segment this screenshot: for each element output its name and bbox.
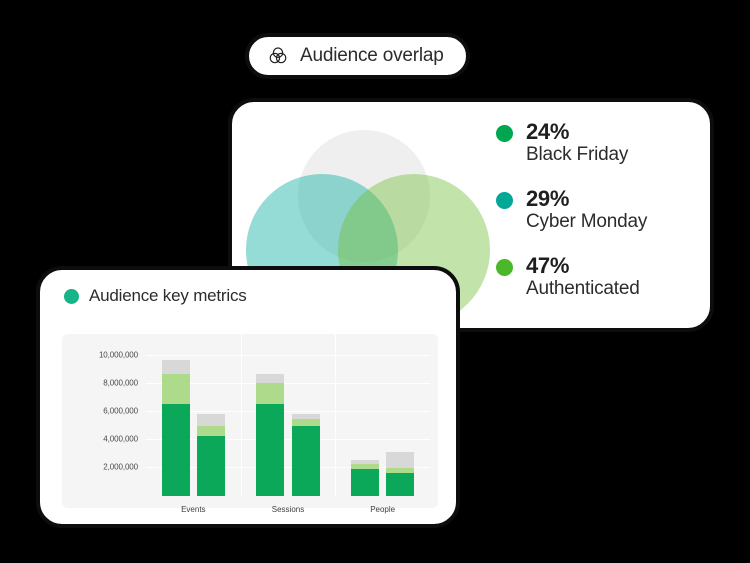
bar[interactable]	[256, 374, 284, 496]
category-separator	[335, 334, 336, 496]
bar-chart-plot-area: 2,000,0004,000,0006,000,0008,000,00010,0…	[146, 342, 430, 496]
legend-label: Authenticated	[526, 277, 640, 301]
bar-segment-tertiary	[256, 374, 284, 383]
bar-segment-primary	[256, 404, 284, 496]
bar-segment-secondary	[256, 383, 284, 403]
bar-segment-tertiary	[386, 452, 414, 468]
bar[interactable]	[351, 460, 379, 496]
bar-segment-secondary	[292, 419, 320, 426]
overlap-legend: 24% Black Friday 29% Cyber Monday 47% Au…	[496, 120, 706, 301]
bar-segment-primary	[292, 426, 320, 496]
metrics-title-dot-icon	[64, 289, 79, 304]
y-axis-tick-label: 4,000,000	[103, 435, 138, 444]
audience-overlap-pill[interactable]: Audience overlap	[245, 33, 470, 79]
screenshot-root: Audience overlap 24% Black Friday 29% Cy…	[0, 0, 750, 563]
legend-item-black-friday: 24% Black Friday	[496, 120, 706, 167]
legend-dot-icon	[496, 125, 513, 142]
metrics-card-title: Audience key metrics	[89, 286, 247, 306]
bar[interactable]	[162, 360, 190, 496]
y-axis-tick-label: 10,000,000	[99, 351, 138, 360]
y-axis-tick-label: 8,000,000	[103, 379, 138, 388]
legend-dot-icon	[496, 192, 513, 209]
bar-segment-secondary	[197, 426, 225, 436]
bar-segment-secondary	[162, 374, 190, 403]
bar[interactable]	[386, 452, 414, 496]
bar-segment-tertiary	[162, 360, 190, 374]
metrics-card-header: Audience key metrics	[40, 270, 456, 306]
legend-percent: 24%	[526, 120, 628, 143]
bar-segment-primary	[197, 436, 225, 496]
category-separator	[241, 334, 242, 496]
bar[interactable]	[292, 414, 320, 496]
bar-chart: 2,000,0004,000,0006,000,0008,000,00010,0…	[62, 334, 438, 508]
bar[interactable]	[197, 414, 225, 496]
y-axis-tick-label: 2,000,000	[103, 463, 138, 472]
bar-segment-tertiary	[197, 414, 225, 426]
bar-segment-primary	[386, 473, 414, 496]
y-axis-tick-label: 6,000,000	[103, 407, 138, 416]
gridline: 10,000,000	[146, 355, 430, 356]
legend-item-cyber-monday: 29% Cyber Monday	[496, 187, 706, 234]
venn-three-circle-icon	[267, 45, 289, 67]
bar-segment-primary	[351, 469, 379, 496]
legend-dot-icon	[496, 259, 513, 276]
legend-label: Cyber Monday	[526, 210, 647, 234]
legend-label: Black Friday	[526, 143, 628, 167]
legend-item-authenticated: 47% Authenticated	[496, 254, 706, 301]
x-axis-category-label: People	[370, 505, 395, 514]
legend-percent: 29%	[526, 187, 647, 210]
audience-overlap-pill-label: Audience overlap	[300, 45, 444, 67]
x-axis-category-label: Events	[181, 505, 205, 514]
bar-segment-primary	[162, 404, 190, 496]
audience-key-metrics-card: Audience key metrics 2,000,0004,000,0006…	[36, 266, 460, 528]
x-axis-category-label: Sessions	[272, 505, 304, 514]
legend-percent: 47%	[526, 254, 640, 277]
